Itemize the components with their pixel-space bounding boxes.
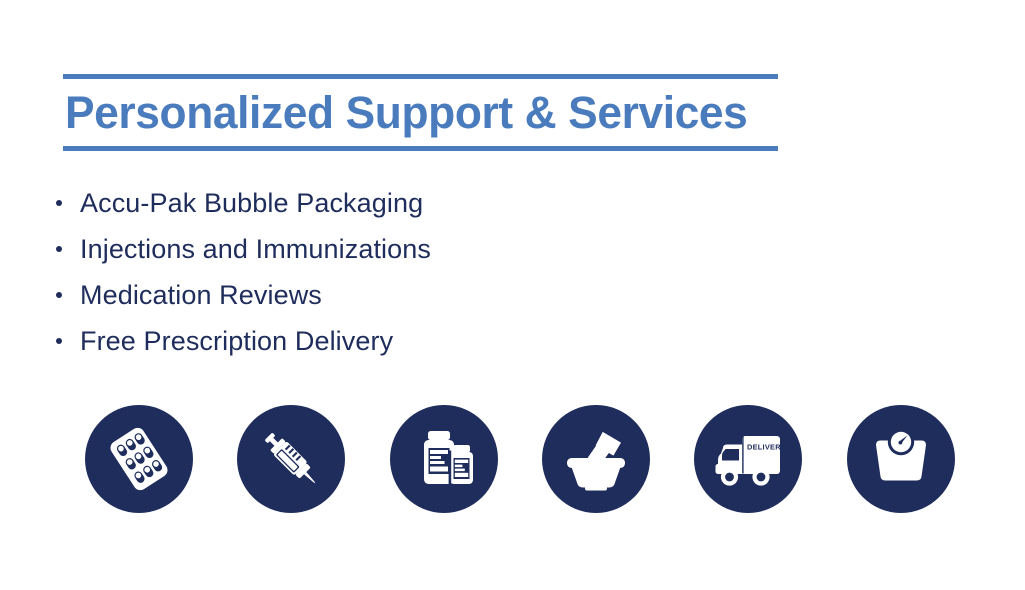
list-item-label: Accu-Pak Bubble Packaging [80, 188, 423, 218]
syringe-icon [255, 423, 327, 495]
service-icon-row: DELIVERY [85, 405, 955, 515]
bullet-dot-icon [56, 292, 62, 298]
blister-pack-icon [103, 423, 175, 495]
delivery-truck-icon: DELIVERY [709, 420, 787, 498]
services-list: Accu-Pak Bubble Packaging Injections and… [52, 180, 431, 364]
list-item: Accu-Pak Bubble Packaging [52, 180, 431, 226]
icon-badge-pill-bottles [390, 405, 498, 513]
icon-badge-delivery-truck: DELIVERY [694, 405, 802, 513]
mortar-pestle-icon [559, 422, 633, 496]
page-title: Personalized Support & Services [63, 79, 767, 146]
pill-bottles-icon [408, 423, 480, 495]
icon-badge-blister-pack [85, 405, 193, 513]
list-item: Medication Reviews [52, 272, 431, 318]
list-item-label: Injections and Immunizations [80, 234, 431, 264]
list-item-label: Medication Reviews [80, 280, 322, 310]
list-item-label: Free Prescription Delivery [80, 326, 393, 356]
bullet-dot-icon [56, 200, 62, 206]
icon-badge-weight-scale [847, 405, 955, 513]
icon-badge-syringe [237, 405, 345, 513]
slide-canvas: Personalized Support & Services Accu-Pak… [0, 0, 1025, 590]
icon-badge-mortar-pestle [542, 405, 650, 513]
bullet-dot-icon [56, 246, 62, 252]
title-rule-bottom [63, 146, 778, 151]
list-item: Injections and Immunizations [52, 226, 431, 272]
list-item: Free Prescription Delivery [52, 318, 431, 364]
bullet-dot-icon [56, 338, 62, 344]
weight-scale-icon [865, 423, 937, 495]
truck-label: DELIVERY [747, 443, 786, 452]
title-block: Personalized Support & Services [63, 74, 778, 151]
